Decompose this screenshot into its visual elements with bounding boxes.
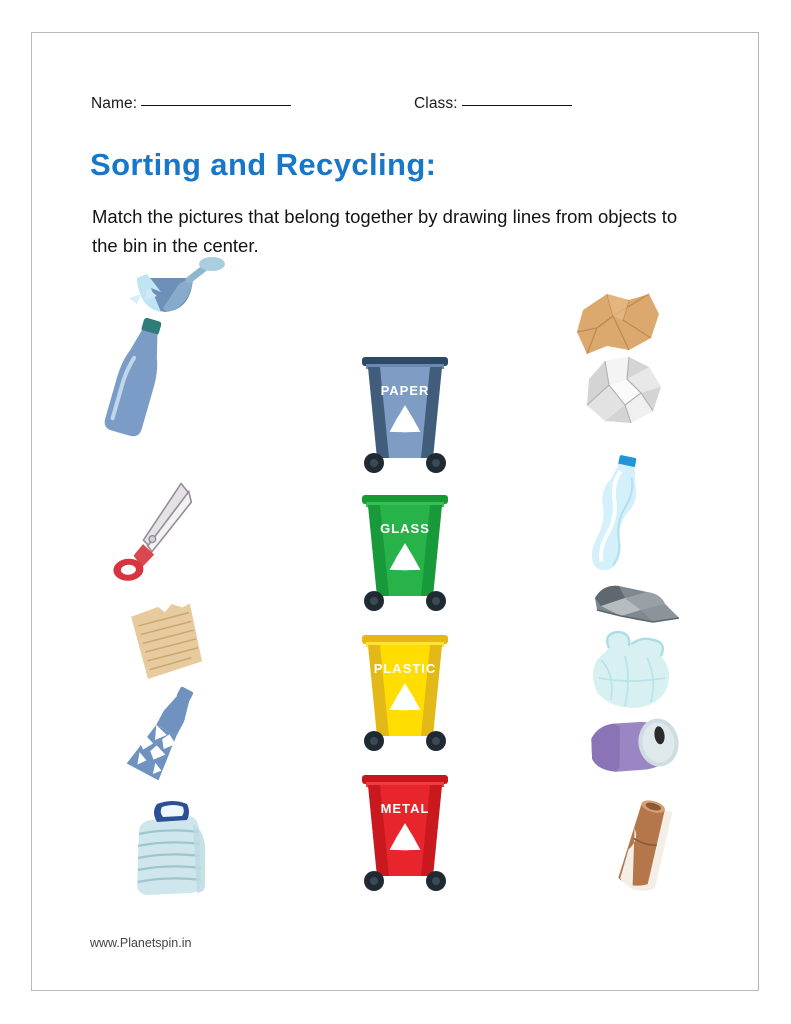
bin-metal[interactable]: METAL [350, 771, 460, 896]
crumpled-white-paper-icon [575, 353, 675, 431]
broken-bottle-icon [115, 682, 215, 787]
bin-label: METAL [381, 801, 430, 816]
scissors-icon [115, 476, 210, 591]
plastic-bin-icon: PLASTIC [350, 631, 460, 756]
object-glass-bottle[interactable] [95, 313, 175, 448]
name-input-blank[interactable] [141, 105, 291, 106]
left-object-column [87, 258, 267, 898]
class-field-row: Class: [414, 95, 572, 113]
object-cardboard-tube[interactable] [595, 798, 695, 903]
bin-label: PAPER [381, 383, 430, 398]
plastic-water-bottle-icon [579, 453, 669, 583]
name-field-row: Name: [91, 95, 291, 113]
plastic-bag-icon [575, 626, 690, 716]
bin-plastic[interactable]: PLASTIC [350, 631, 460, 756]
object-plastic-water-bottle[interactable] [579, 453, 669, 583]
cardboard-tube-icon [595, 798, 695, 903]
metal-bin-icon: METAL [350, 771, 460, 896]
bin-glass[interactable]: GLASS [350, 491, 460, 616]
bin-paper[interactable]: PAPER [350, 353, 460, 478]
purple-can-icon [577, 713, 692, 783]
object-plastic-bag[interactable] [575, 626, 690, 716]
paper-bin-icon: PAPER [350, 353, 460, 478]
glass-bottle-icon [95, 313, 175, 448]
class-label: Class: [414, 95, 458, 112]
worksheet-page: Name: Class: Sorting and Recycling: Matc… [31, 32, 759, 991]
footer-url: www.Planetspin.in [90, 936, 191, 950]
object-purple-aluminum-can[interactable] [577, 713, 692, 783]
glass-bin-icon: GLASS [350, 491, 460, 616]
object-scissors[interactable] [115, 476, 210, 591]
bin-column: PAPER GLASS [332, 333, 472, 913]
name-label: Name: [91, 95, 137, 112]
right-object-column [537, 258, 717, 898]
object-crumpled-white-paper[interactable] [575, 353, 675, 431]
bin-label: PLASTIC [374, 661, 437, 676]
object-torn-paper-sheet[interactable] [117, 602, 217, 682]
bin-label: GLASS [380, 521, 430, 536]
class-input-blank[interactable] [462, 105, 572, 106]
torn-paper-icon [117, 602, 217, 682]
instructions-text: Match the pictures that belong together … [92, 202, 692, 260]
object-broken-bottle[interactable] [115, 682, 215, 787]
page-title: Sorting and Recycling: [90, 147, 436, 183]
object-crushed-plastic-bottle[interactable] [117, 798, 217, 903]
crushed-plastic-bottle-icon [117, 798, 217, 903]
